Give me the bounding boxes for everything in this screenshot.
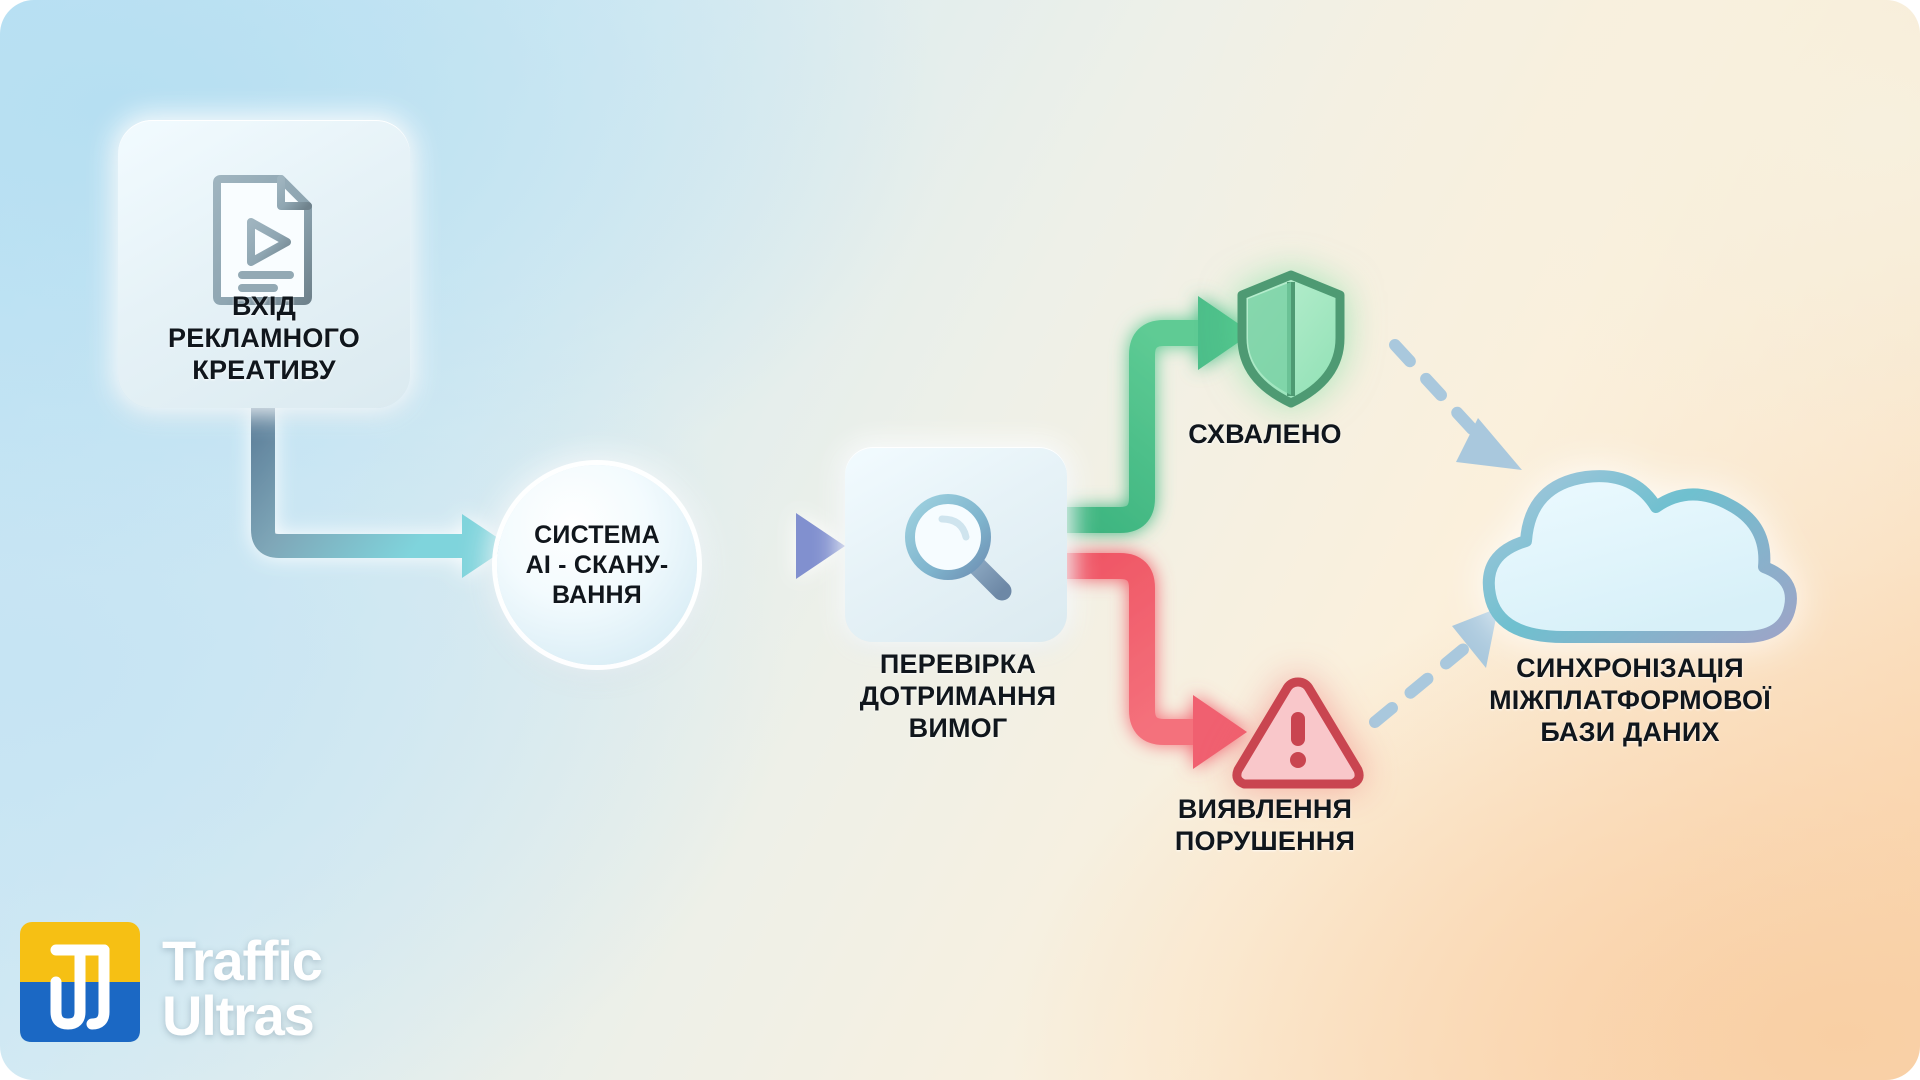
brand-name-line2: Ultras [162, 989, 322, 1044]
node-cloud-sync-label: СИНХРОНІЗАЦІЯ МІЖПЛАТФОРМОВОЇ БАЗИ ДАНИХ [1430, 652, 1830, 748]
edge-ai-to-compliance [700, 513, 845, 579]
node-ai-scan-label: СИСТЕМА AI - СКАНУ- ВАННЯ [508, 520, 686, 610]
edge-input-to-ai [263, 408, 510, 578]
node-approved-label: СХВАЛЕНО [1100, 418, 1430, 450]
node-compliance-card[interactable] [845, 447, 1067, 642]
node-compliance-label: ПЕРЕВІРКА ДОТРИМАННЯ ВИМОГ [815, 648, 1101, 744]
edge-compliance-to-approved [1067, 296, 1252, 520]
traffic-ultras-monogram-icon [18, 920, 142, 1058]
document-video-icon [211, 170, 317, 306]
diagram-canvas: ВХІД РЕКЛАМНОГО КРЕАТИВУ СИСТЕМА AI - СК… [0, 0, 1920, 1080]
warning-triangle-icon[interactable] [1228, 672, 1368, 794]
node-violation-label: ВИЯВЛЕННЯ ПОРУШЕННЯ [1110, 793, 1420, 857]
brand-logo: Traffic Ultras [18, 920, 322, 1058]
node-input-label: ВХІД РЕКЛАМНОГО КРЕАТИВУ [118, 290, 410, 386]
magnifier-icon [892, 481, 1020, 609]
brand-name-line1: Traffic [162, 934, 322, 989]
shield-icon[interactable] [1232, 268, 1350, 410]
cloud-icon[interactable] [1468, 455, 1806, 655]
brand-name: Traffic Ultras [162, 934, 322, 1044]
edge-approved-to-cloud [1395, 345, 1522, 470]
node-ai-scan[interactable]: СИСТЕМА AI - СКАНУ- ВАННЯ [497, 465, 697, 665]
